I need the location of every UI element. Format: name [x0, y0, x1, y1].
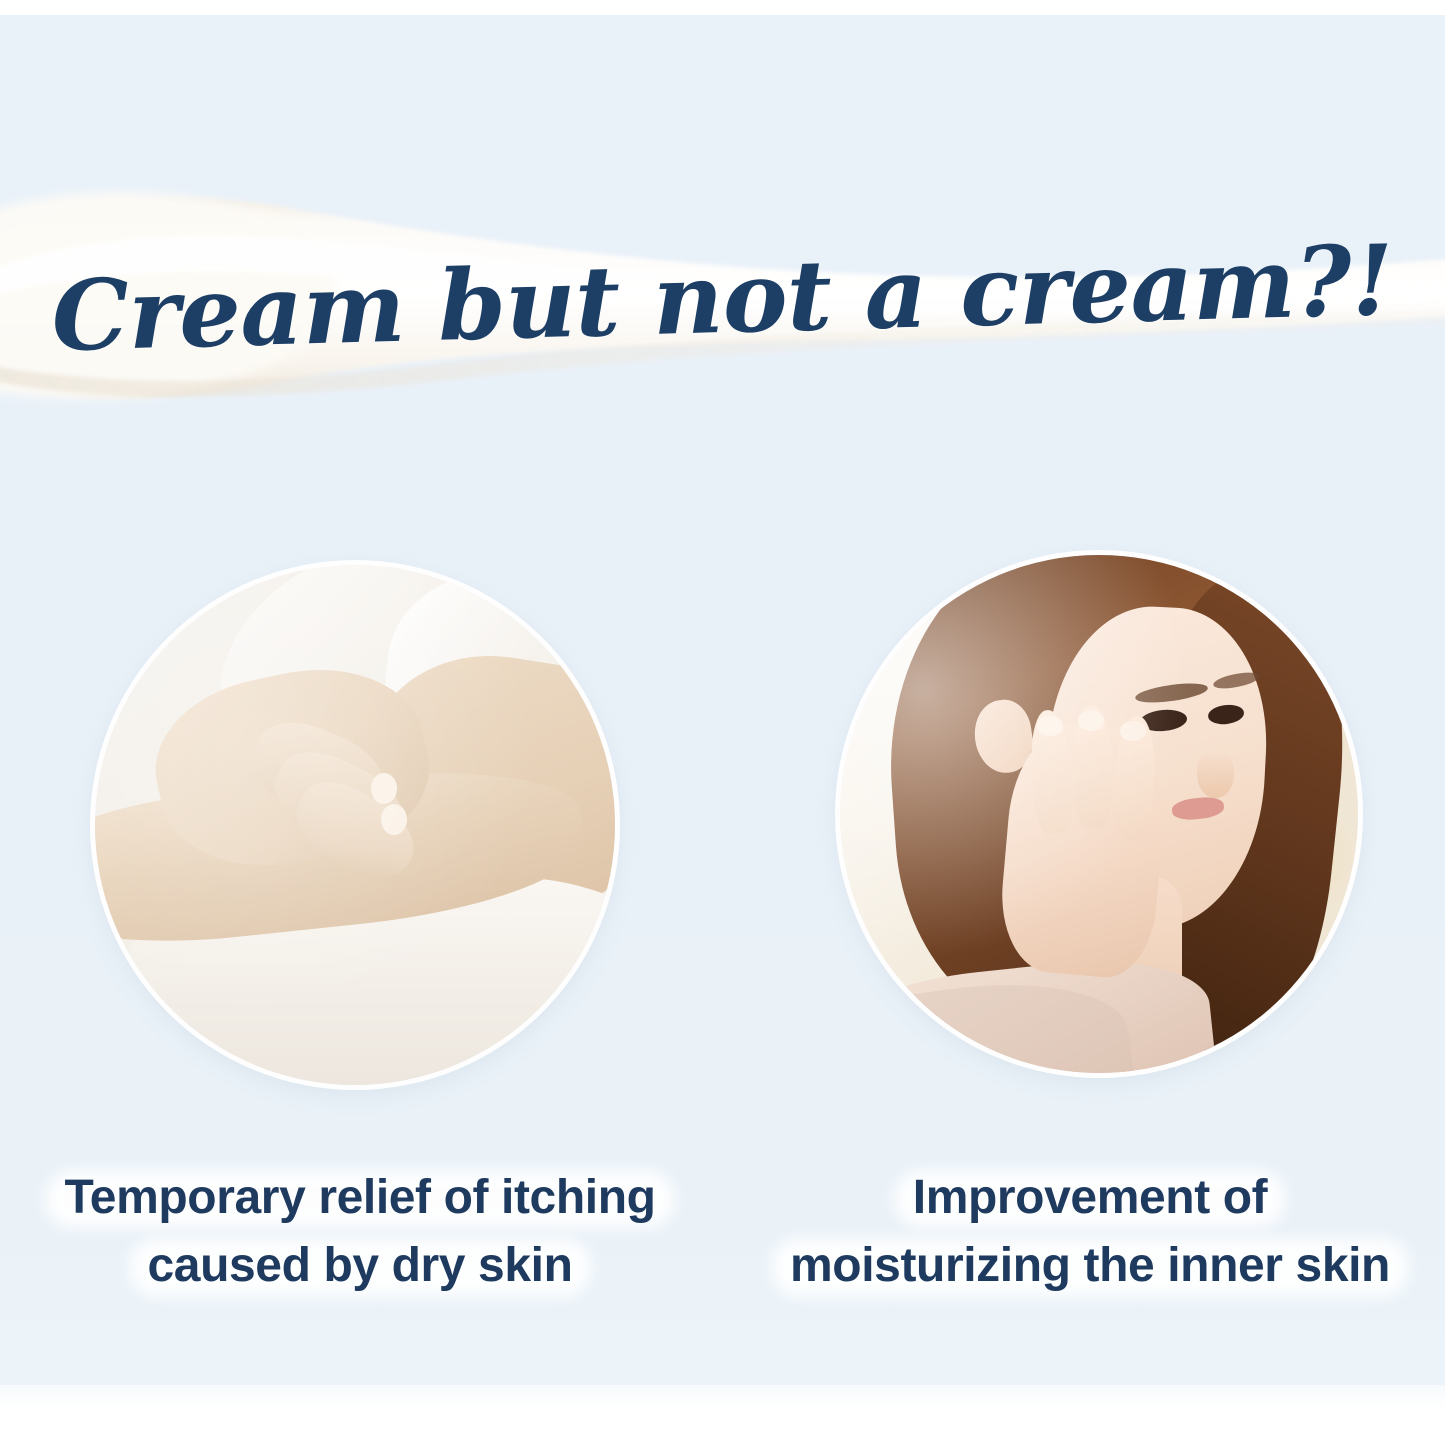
caption-line: caused by dry skin — [10, 1233, 710, 1301]
feature-image-inner-moisture — [840, 555, 1358, 1073]
product-feature-banner: Cream but not a cream?! — [0, 0, 1445, 1445]
background-bottom-strip — [0, 1385, 1445, 1445]
caption-line-text: caused by dry skin — [148, 1239, 573, 1292]
caption-line: moisturizing the inner skin — [745, 1233, 1435, 1301]
caption-line-text: Temporary relief of itching — [64, 1171, 655, 1224]
caption-line: Improvement of — [745, 1165, 1435, 1233]
feature-image-itch-relief — [95, 565, 615, 1085]
caption-line-text: moisturizing the inner skin — [790, 1239, 1390, 1292]
background-top-strip — [0, 0, 1445, 15]
caption-line: Temporary relief of itching — [10, 1165, 710, 1233]
feature-caption-itch-relief: Temporary relief of itching caused by dr… — [10, 1165, 710, 1302]
feature-caption-inner-moisture: Improvement of moisturizing the inner sk… — [745, 1165, 1435, 1302]
caption-line-text: Improvement of — [913, 1171, 1267, 1224]
